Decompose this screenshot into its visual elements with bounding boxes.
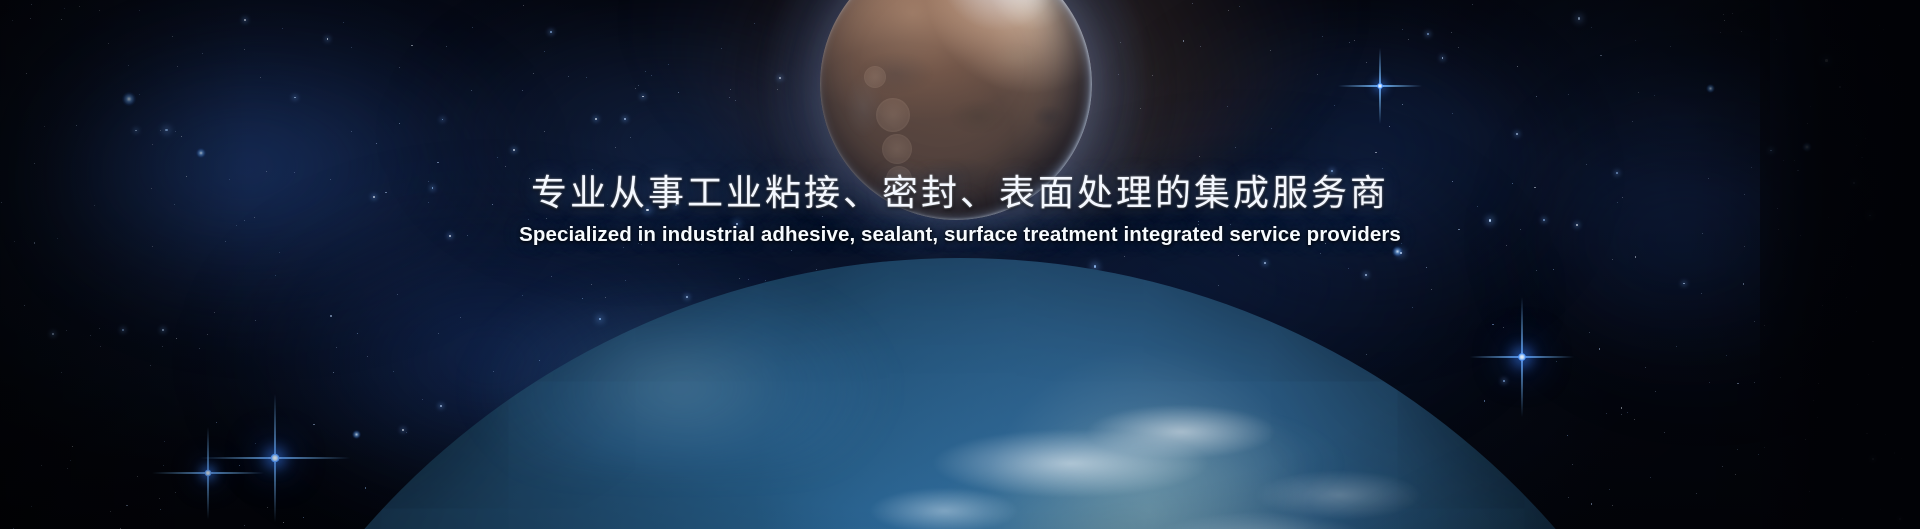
lens-flare-ghost [882,134,912,164]
lens-flare-ghost [864,66,886,88]
banner-headline: 专业从事工业粘接、密封、表面处理的集成服务商 [0,172,1920,214]
banner-copy: 专业从事工业粘接、密封、表面处理的集成服务商 Specialized in in… [0,172,1920,247]
lens-flare-ghost [876,98,910,132]
banner-subtitle: Specialized in industrial adhesive, seal… [0,223,1920,247]
glow-star [1392,246,1403,257]
glow-star [196,148,206,158]
hero-banner: 专业从事工业粘接、密封、表面处理的集成服务商 Specialized in in… [0,0,1920,529]
glow-star [352,430,361,439]
background-dark-plate [1760,0,1920,529]
glow-star [122,92,136,106]
